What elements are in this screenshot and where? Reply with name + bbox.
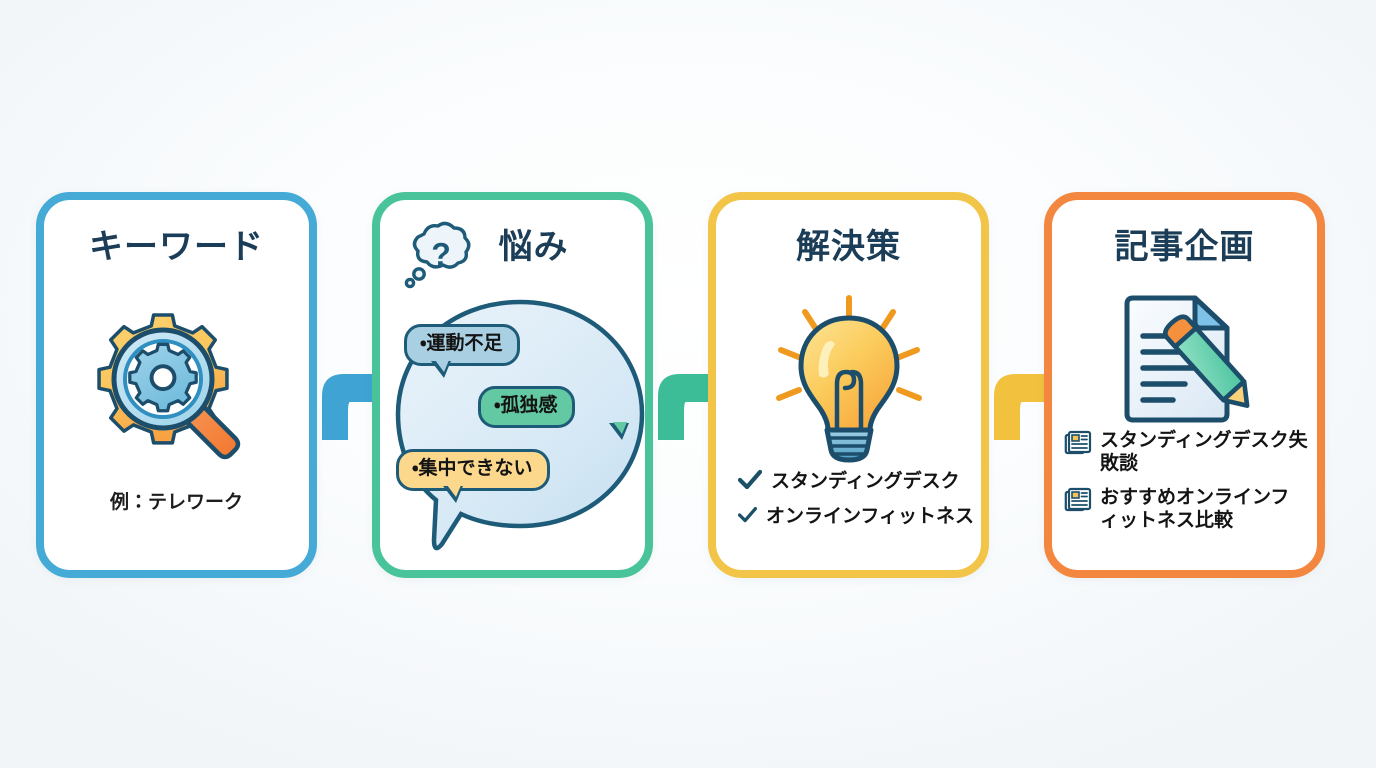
document-pencil-icon — [1052, 292, 1317, 426]
problem-tag-3: ・集中できない — [396, 449, 550, 491]
card-solution-title: 解決策 — [716, 230, 981, 264]
card-solution-body: 解決策 — [716, 200, 981, 570]
infographic-canvas: キーワード — [0, 0, 1376, 768]
article-plan-list: スタンディングデスク失敗談 おすすめオンラインフ — [1064, 430, 1316, 544]
card-solution[interactable]: 解決策 — [708, 192, 989, 578]
article-plan-item-1: スタンディングデスク失敗談 — [1064, 430, 1316, 475]
solution-check-list: スタンディングデスク オンラインフィットネス — [738, 466, 974, 536]
newspaper-icon — [1064, 430, 1092, 456]
newspaper-icon — [1064, 487, 1092, 513]
problem-tag-3-tail — [443, 486, 463, 503]
problem-tag-2: ・孤独感 — [478, 386, 575, 428]
solution-check-item-2-label: オンラインフィットネス — [766, 501, 974, 528]
gear-magnifier-icon — [44, 296, 309, 462]
card-keyword-caption: 例：テレワーク — [44, 487, 309, 514]
problem-tag-3-label: ・集中できない — [412, 458, 532, 479]
card-keyword-body: キーワード — [44, 200, 309, 570]
article-plan-item-2-label: おすすめオンラインフィットネス比較 — [1100, 487, 1308, 532]
problem-tag-2-label: ・孤独感 — [494, 395, 557, 416]
check-icon — [738, 504, 757, 526]
card-keyword[interactable]: キーワード — [36, 192, 317, 578]
article-plan-item-1-label: スタンディングデスク失敗談 — [1100, 430, 1308, 475]
card-keyword-title: キーワード — [44, 230, 309, 264]
problem-tag-1-tail — [431, 361, 451, 378]
card-article-plan[interactable]: 記事企画 — [1044, 192, 1325, 578]
solution-check-item-1-label: スタンディングデスク — [771, 466, 960, 493]
card-article-plan-body: 記事企画 — [1052, 200, 1317, 570]
card-article-plan-title: 記事企画 — [1052, 230, 1317, 264]
card-problem[interactable]: ? 悩み ・運動不足 — [372, 192, 653, 578]
solution-check-item-2: オンラインフィットネス — [738, 501, 974, 528]
check-icon — [738, 469, 762, 491]
card-problem-title: 悩み — [380, 230, 645, 264]
problem-speech-bubble: ・運動不足 ・孤独感 ・集中できない — [380, 294, 645, 564]
lightbulb-icon — [716, 292, 981, 468]
solution-check-item-1: スタンディングデスク — [738, 466, 974, 493]
card-problem-body: ? 悩み ・運動不足 — [380, 200, 645, 570]
problem-tag-2-tail — [609, 423, 629, 440]
article-plan-item-2: おすすめオンラインフィットネス比較 — [1064, 487, 1316, 532]
problem-tag-1: ・運動不足 — [404, 324, 520, 366]
problem-tag-1-label: ・運動不足 — [420, 333, 502, 354]
